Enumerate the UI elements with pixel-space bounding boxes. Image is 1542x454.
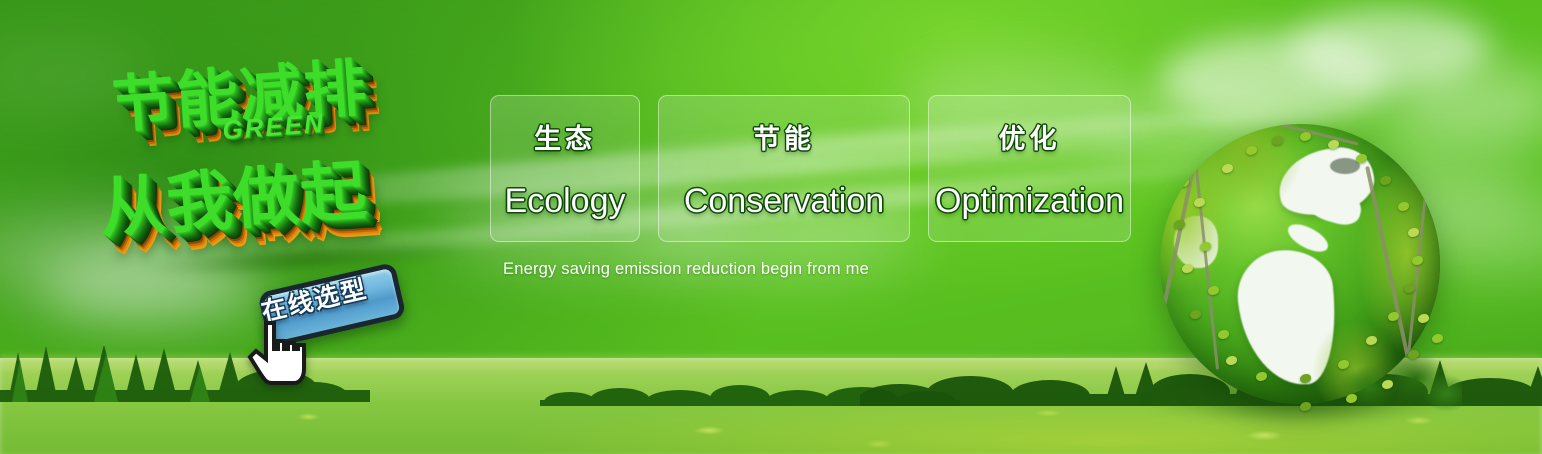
feature-card-ecology[interactable]: 生态 Ecology: [490, 95, 640, 242]
feature-card-en-label: Optimization: [935, 182, 1124, 221]
feature-card-optimization[interactable]: 优化 Optimization: [928, 95, 1131, 242]
feature-card-cn-label: 优化: [999, 117, 1061, 156]
headline-line-2: 从我做起: [96, 137, 370, 251]
green-energy-banner: 节能减排 GREEN 从我做起 生态 Ecology 节能 Conservati…: [0, 0, 1542, 454]
feature-card-conservation[interactable]: 节能 Conservation: [658, 95, 910, 242]
headline-3d: 节能减排 GREEN 从我做起: [88, 22, 503, 279]
feature-card-en-label: Conservation: [684, 182, 884, 221]
shrub: [1332, 340, 1462, 416]
feature-card-en-label: Ecology: [505, 182, 626, 221]
ivy-covered-earth-globe: [1150, 118, 1450, 428]
tagline: Energy saving emission reduction begin f…: [503, 260, 869, 279]
feature-card-cn-label: 生态: [534, 117, 596, 156]
pointing-hand-cursor-icon: [242, 315, 306, 389]
feature-cards: 生态 Ecology 节能 Conservation 优化 Optimizati…: [490, 95, 1131, 242]
treeline-left: [0, 346, 370, 402]
feature-card-cn-label: 节能: [753, 117, 815, 156]
